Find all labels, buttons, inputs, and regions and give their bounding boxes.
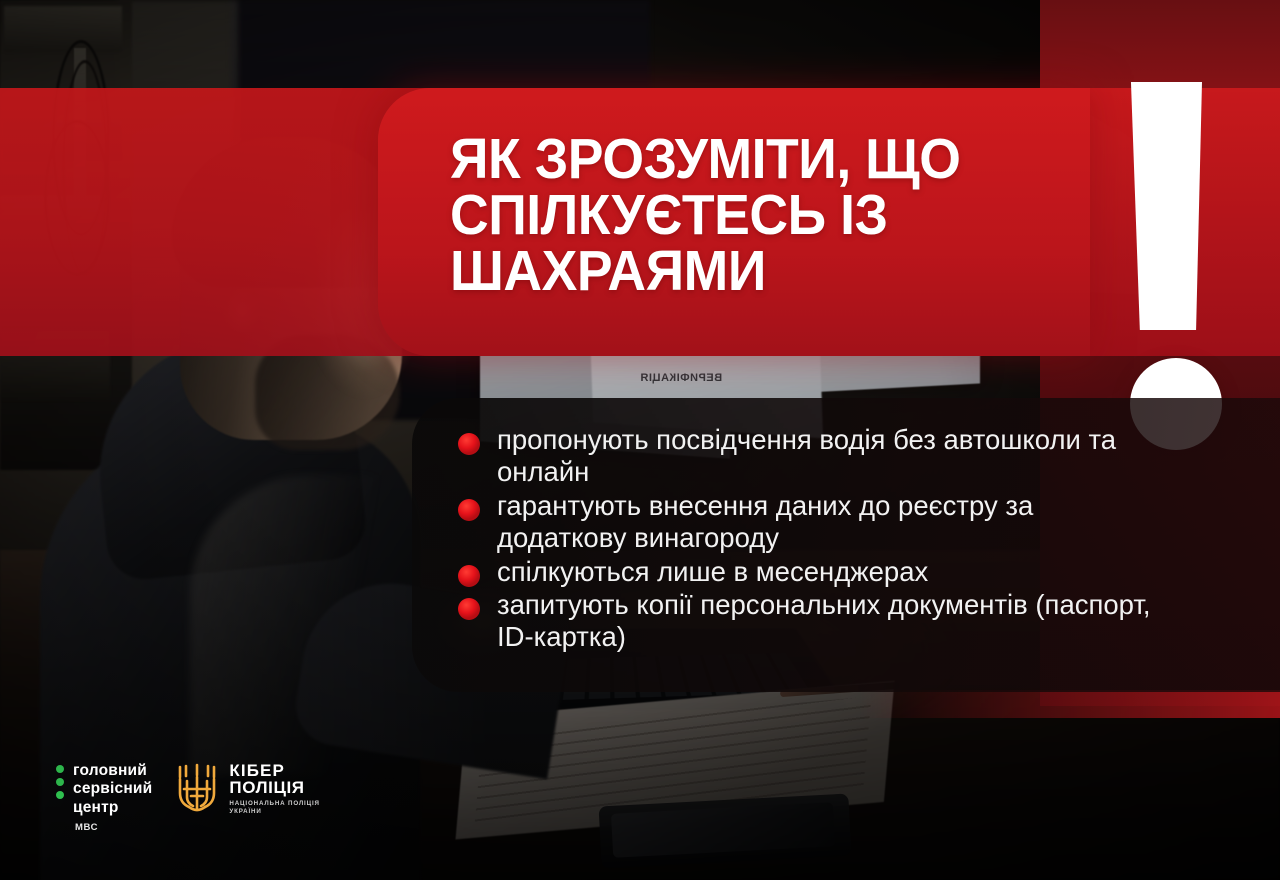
red-band-top-shadow <box>1040 0 1280 92</box>
three-dots-icon <box>56 762 64 799</box>
list-item-text: пропонують посвідчення водія без автошко… <box>497 424 1116 487</box>
bullet-dot-icon <box>458 565 480 587</box>
bullet-dot-icon <box>458 598 480 620</box>
list-item-text: гарантують внесення даних до реєстру за … <box>497 490 1033 553</box>
logo-service-center: головний сервісний центр МВС <box>56 762 152 833</box>
cyber-police-line-2: ПОЛІЦІЯ <box>229 779 319 796</box>
bullet-dot-icon <box>458 433 480 455</box>
page-title: ЯК ЗРОЗУМІТИ, ЩО СПІЛКУЄТЕСЬ ІЗ ШАХРАЯМИ <box>450 132 1070 300</box>
service-center-line-3: центр <box>73 799 152 817</box>
trident-emblem-icon <box>174 763 220 815</box>
exclamation-mark-bar <box>1128 82 1202 330</box>
cyber-police-subtitle-1: НАЦІОНАЛЬНА ПОЛІЦІЯ <box>229 800 319 808</box>
service-center-subtitle: МВС <box>73 822 152 833</box>
infographic-poster: ОПЕРАЦІЯ ВИЛУЧЕННЯ ДАНИХ БАНКІВСЬКІ РАХУ… <box>0 0 1280 880</box>
list-item: спілкуються лише в месенджерах <box>452 556 1152 588</box>
list-item: запитують копії персональних документів … <box>452 589 1152 653</box>
logo-cyber-police: КІБЕР ПОЛІЦІЯ НАЦІОНАЛЬНА ПОЛІЦІЯ УКРАЇН… <box>174 762 319 816</box>
red-strip-bottom <box>860 690 1280 718</box>
logo-bar: головний сервісний центр МВС <box>56 762 320 842</box>
warning-signs-list: пропонують посвідчення водія без автошко… <box>452 424 1152 655</box>
green-dot-icon <box>56 765 64 773</box>
green-dot-icon <box>56 778 64 786</box>
list-item: пропонують посвідчення водія без автошко… <box>452 424 1152 488</box>
list-item: гарантують внесення даних до реєстру за … <box>452 490 1152 554</box>
cyber-police-subtitle-2: УКРАЇНИ <box>229 808 319 816</box>
list-item-text: запитують копії персональних документів … <box>497 589 1151 652</box>
service-center-line-1: головний <box>73 762 152 780</box>
cyber-police-line-1: КІБЕР <box>229 762 319 779</box>
bullet-dot-icon <box>458 499 480 521</box>
service-center-line-2: сервісний <box>73 780 152 798</box>
list-item-text: спілкуються лише в месенджерах <box>497 556 928 587</box>
green-dot-icon <box>56 791 64 799</box>
